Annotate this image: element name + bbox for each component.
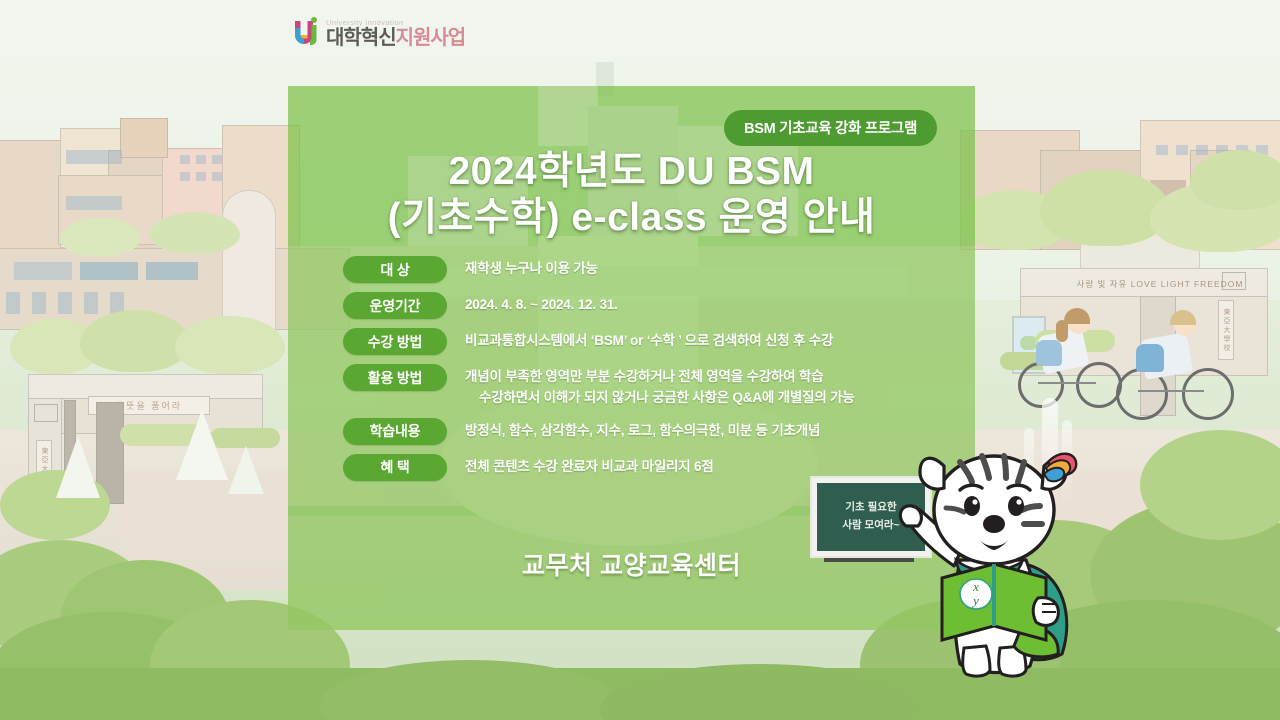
- info-row-value-line-1: 전체 콘텐츠 수강 완료자 비교과 마일리지 6점: [465, 459, 714, 474]
- window: [80, 262, 138, 280]
- info-row: 학습내용 방정식, 함수, 삼각함수, 지수, 로그, 함수의극한, 미분 등 …: [343, 418, 957, 445]
- window: [1156, 145, 1168, 155]
- tree: [1040, 170, 1170, 246]
- poster-title: 2024학년도 DU BSM (기초수학) e-class 운영 안내: [288, 149, 975, 241]
- building: [120, 118, 168, 158]
- info-row-value: 개념이 부족한 영역만 부분 수강하거나 전체 영역을 수강하여 학습 수강하면…: [447, 364, 957, 409]
- blossom-tree: [56, 436, 100, 498]
- bicycle-frame: [1138, 390, 1204, 392]
- window: [180, 172, 190, 181]
- cyclist-right: [1112, 306, 1242, 436]
- logo-text: University innovation 대학혁신지원사업: [326, 19, 465, 49]
- rider-ponytail: [1056, 320, 1068, 342]
- window: [212, 172, 222, 181]
- poster-title-line-2: (기초수학) e-class 운영 안내: [288, 195, 975, 241]
- chalkboard-line-2: 사람 모여라~: [842, 517, 899, 535]
- info-row-value-line-1: 방정식, 함수, 삼각함수, 지수, 로그, 함수의극한, 미분 등 기초개념: [465, 423, 820, 438]
- tower-building: [222, 190, 276, 330]
- window: [196, 172, 206, 181]
- bicycle-frame: [1038, 382, 1096, 384]
- blossom-tree: [228, 446, 264, 494]
- window: [84, 292, 98, 314]
- info-row-label: 수강 방법: [343, 328, 447, 355]
- tree: [150, 212, 240, 254]
- logo-title-dark: 대학혁신: [326, 27, 396, 49]
- info-row-value: 재학생 누구나 이용 가능: [447, 256, 957, 280]
- info-row-label: 활용 방법: [343, 364, 447, 391]
- university-innovation-logo: University innovation 대학혁신지원사업: [292, 16, 465, 48]
- window: [196, 155, 206, 164]
- logo-title: 대학혁신지원사업: [326, 28, 465, 48]
- info-row: 활용 방법 개념이 부족한 영역만 부분 수강하거나 전체 영역을 수강하여 학…: [343, 364, 957, 409]
- tree: [175, 316, 285, 374]
- info-row-value-line-2: 수강하면서 이해가 되지 않거나 궁금한 사항은 Q&A에 개별질의 가능: [465, 388, 957, 409]
- tree: [60, 218, 140, 256]
- info-row-label: 대 상: [343, 256, 447, 283]
- window: [66, 150, 122, 164]
- rider-backpack: [1136, 344, 1164, 372]
- logo-subtitle: University innovation: [326, 19, 465, 27]
- window: [212, 155, 222, 164]
- tiger-mascot: x y x y: [898, 448, 1116, 680]
- program-badge: BSM 기초교육 강화 프로그램: [724, 110, 937, 146]
- info-row-label: 운영기간: [343, 292, 447, 319]
- chalkboard-line-1: 기초 필요한: [845, 499, 896, 517]
- info-row-label: 학습내용: [343, 418, 447, 445]
- window: [58, 292, 72, 314]
- info-row-value: 2024. 4. 8. ~ 2024. 12. 31.: [447, 292, 957, 316]
- bicycle-wheel: [1182, 368, 1234, 420]
- info-rows: 대 상 재학생 누구나 이용 가능 운영기간 2024. 4. 8. ~ 202…: [343, 256, 957, 490]
- u-mark-logo-icon: [292, 16, 322, 48]
- info-row-value: 방정식, 함수, 삼각함수, 지수, 로그, 함수의극한, 미분 등 기초개념: [447, 418, 957, 442]
- gate-right-sign: 사랑 빛 자유 LOVE LIGHT FREEDOM: [1080, 276, 1240, 292]
- window: [1176, 145, 1188, 155]
- info-row-value-line-1: 비교과통합시스템에서 ‘BSM’ or ‘수학 ’ 으로 검색하여 신청 후 수…: [465, 333, 833, 348]
- tree: [1190, 150, 1280, 210]
- info-row: 운영기간 2024. 4. 8. ~ 2024. 12. 31.: [343, 292, 957, 319]
- info-row-value: 전체 콘텐츠 수강 완료자 비교과 마일리지 6점: [447, 454, 957, 478]
- rider-backpack: [1036, 340, 1062, 366]
- info-row-value-line-1: 2024. 4. 8. ~ 2024. 12. 31.: [465, 297, 618, 312]
- blossom-tree: [176, 410, 228, 480]
- svg-text:y: y: [971, 593, 979, 608]
- window: [180, 155, 190, 164]
- info-row-value: 비교과통합시스템에서 ‘BSM’ or ‘수학 ’ 으로 검색하여 신청 후 수…: [447, 328, 957, 352]
- gate-left-emblem: [34, 404, 58, 422]
- window: [6, 292, 20, 314]
- window: [14, 262, 72, 280]
- info-row-value-line-1: 개념이 부족한 영역만 부분 수강하거나 전체 영역을 수강하여 학습: [465, 369, 823, 384]
- info-row-label: 혜 택: [343, 454, 447, 481]
- info-row-value-line-1: 재학생 누구나 이용 가능: [465, 261, 598, 276]
- window: [32, 292, 46, 314]
- rider-hair: [1064, 308, 1090, 324]
- window: [66, 196, 122, 210]
- poster-canvas: 큰뜻을 품어라 東亞大學校 사랑 빛 자유 LOVE LIGHT FREEDOM…: [0, 0, 1280, 720]
- info-row: 대 상 재학생 누구나 이용 가능: [343, 256, 957, 283]
- info-row: 수강 방법 비교과통합시스템에서 ‘BSM’ or ‘수학 ’ 으로 검색하여 …: [343, 328, 957, 355]
- gate-right-emblem: [1222, 272, 1246, 290]
- tree: [80, 310, 190, 372]
- window: [146, 262, 198, 280]
- gate-left-sign-text: 큰뜻을 품어라: [116, 399, 182, 412]
- window: [1196, 145, 1208, 155]
- poster-title-line-1: 2024학년도 DU BSM: [288, 149, 975, 195]
- logo-title-pink: 지원사업: [396, 27, 466, 49]
- gate-right-sign-text: 사랑 빛 자유 LOVE LIGHT FREEDOM: [1077, 278, 1244, 290]
- svg-text:x: x: [972, 579, 979, 594]
- rider-hair: [1170, 310, 1196, 325]
